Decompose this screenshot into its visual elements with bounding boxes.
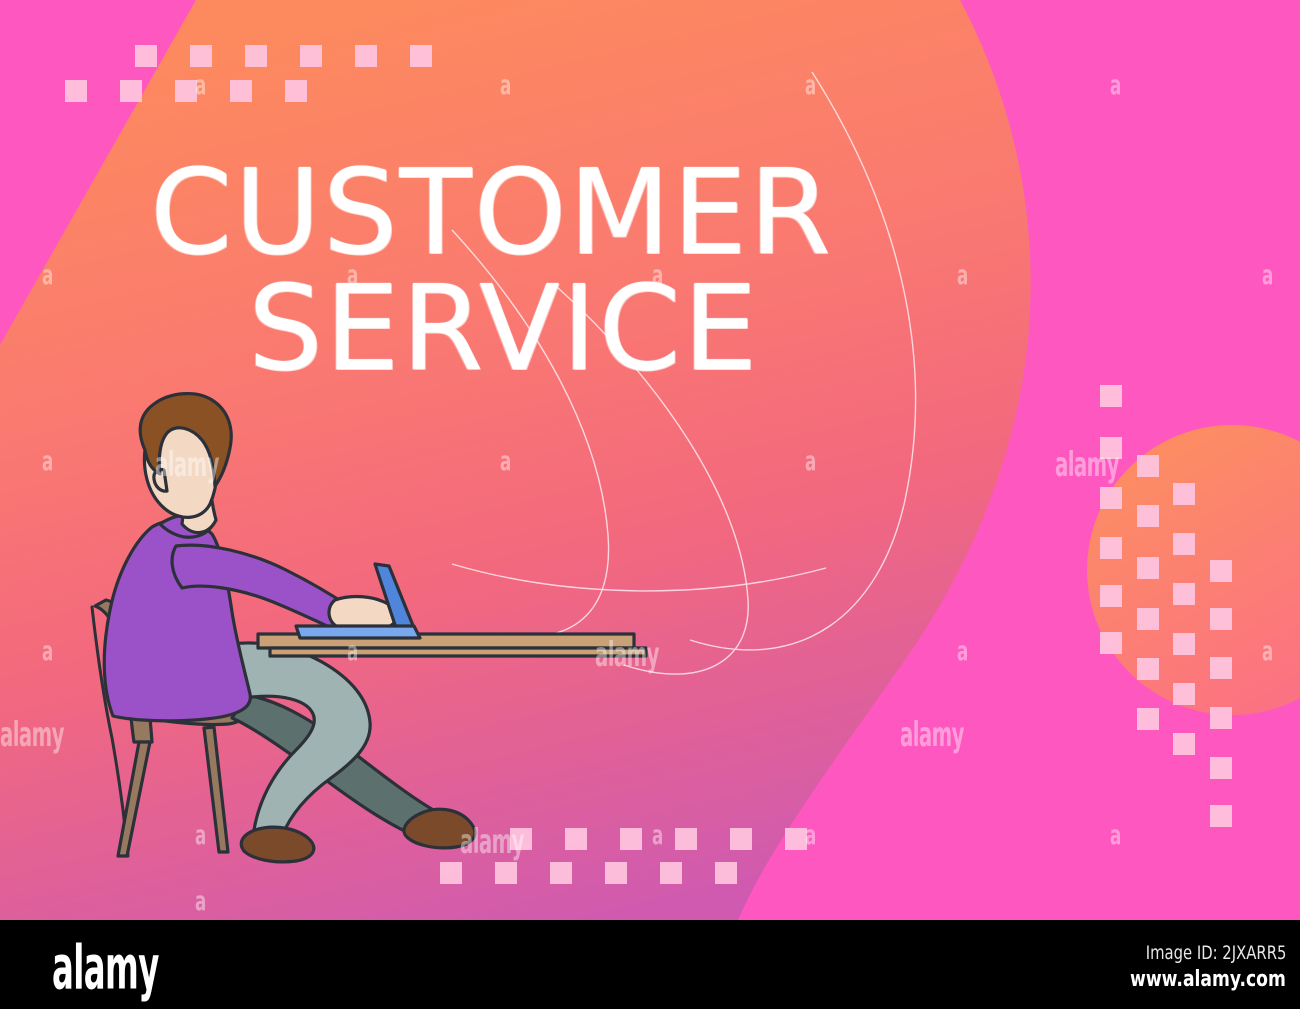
website-label[interactable]: www.alamy.com [1130, 967, 1286, 992]
shoe-front [241, 827, 314, 862]
shoe-back [404, 809, 475, 848]
laptop-base [296, 626, 420, 638]
image-id-label: Image ID: 2JXARR5 [1145, 942, 1286, 964]
stock-photo-artwork: CUSTOMER SERVICE a a a a a a a a a alamy… [0, 0, 1300, 920]
alamy-footer-bar: alamy Image ID: 2JXARR5 www.alamy.com [0, 920, 1300, 1009]
chair-leg-rear [204, 727, 228, 852]
alamy-logo: alamy [52, 938, 159, 998]
desk-edge [270, 648, 646, 656]
screenshot-root: CUSTOMER SERVICE a a a a a a a a a alamy… [0, 0, 1300, 1009]
illustration-man-at-laptop [0, 0, 1300, 920]
